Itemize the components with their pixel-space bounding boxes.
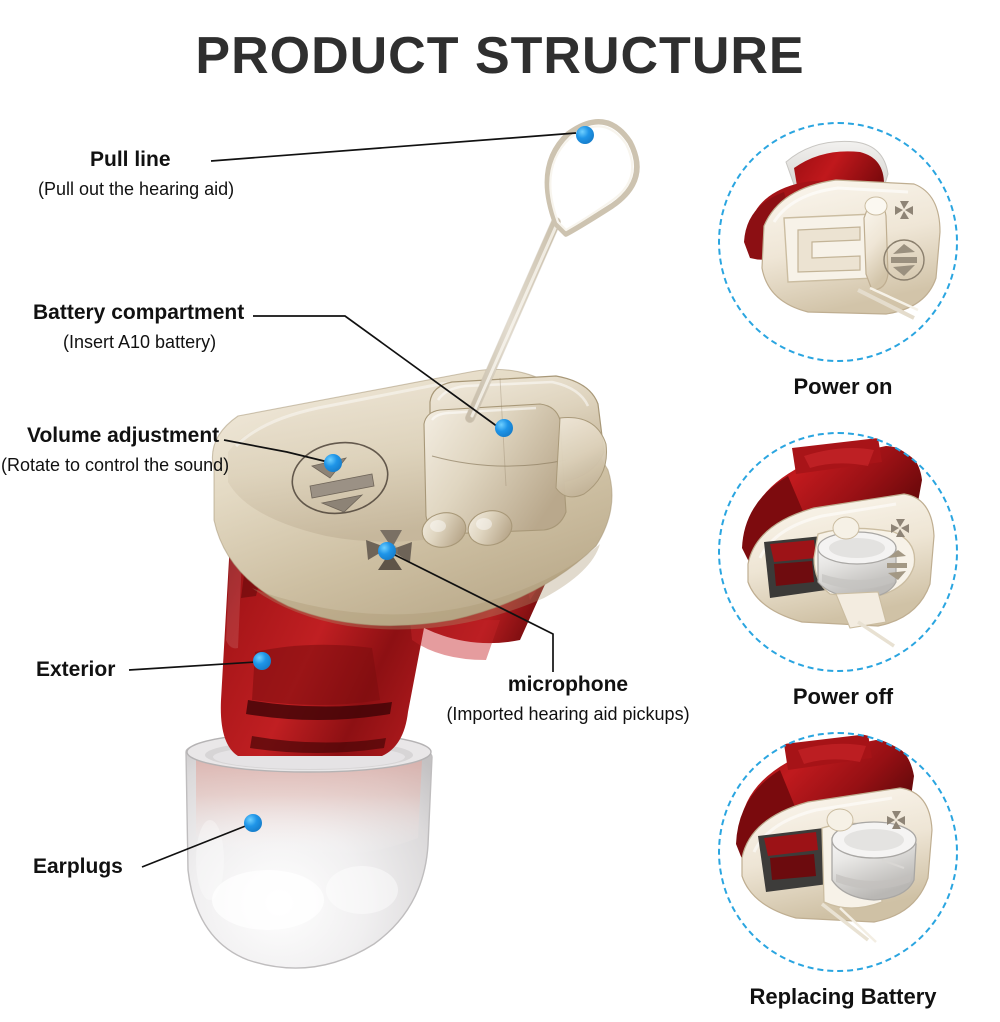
callout-microphone: microphone (Imported hearing aid pickups… — [443, 673, 693, 725]
callout-battery-compartment-sublabel: (Insert A10 battery) — [63, 333, 244, 353]
replacing-battery-dashed-circle — [718, 732, 958, 972]
callout-microphone-label: microphone — [443, 673, 693, 696]
callout-microphone-sublabel: (Imported hearing aid pickups) — [443, 705, 693, 725]
callout-earplugs-label: Earplugs — [33, 855, 123, 878]
callout-earplugs: Earplugs — [33, 855, 123, 878]
callout-pull-line-label: Pull line — [90, 148, 234, 171]
callout-battery-compartment: Battery compartment (Insert A10 battery) — [33, 301, 244, 353]
panel-power-on-caption: Power on — [718, 374, 968, 400]
callout-exterior-label: Exterior — [36, 658, 115, 681]
callout-battery-compartment-label: Battery compartment — [33, 301, 244, 324]
callout-pull-line-sublabel: (Pull out the hearing aid) — [38, 180, 234, 200]
infographic-canvas: PRODUCT STRUCTURE — [0, 0, 1000, 1000]
callout-volume-adjustment-sublabel: (Rotate to control the sound) — [1, 456, 229, 476]
callout-pull-line: Pull line (Pull out the hearing aid) — [90, 148, 234, 200]
panel-power-off-caption: Power off — [718, 684, 968, 710]
callout-volume-adjustment-label: Volume adjustment — [27, 424, 229, 447]
power-off-dashed-circle — [718, 432, 958, 672]
callout-exterior: Exterior — [36, 658, 115, 681]
panel-replacing-battery-caption: Replacing Battery — [718, 984, 968, 1010]
panel-replacing-battery[interactable]: Replacing Battery — [718, 732, 968, 1022]
callout-volume-adjustment: Volume adjustment (Rotate to control the… — [27, 424, 229, 476]
power-on-dashed-circle — [718, 122, 958, 362]
panel-power-on[interactable]: Power on — [718, 122, 968, 412]
silicone-eartip — [186, 732, 432, 968]
panel-power-off[interactable]: Power off — [718, 432, 968, 722]
